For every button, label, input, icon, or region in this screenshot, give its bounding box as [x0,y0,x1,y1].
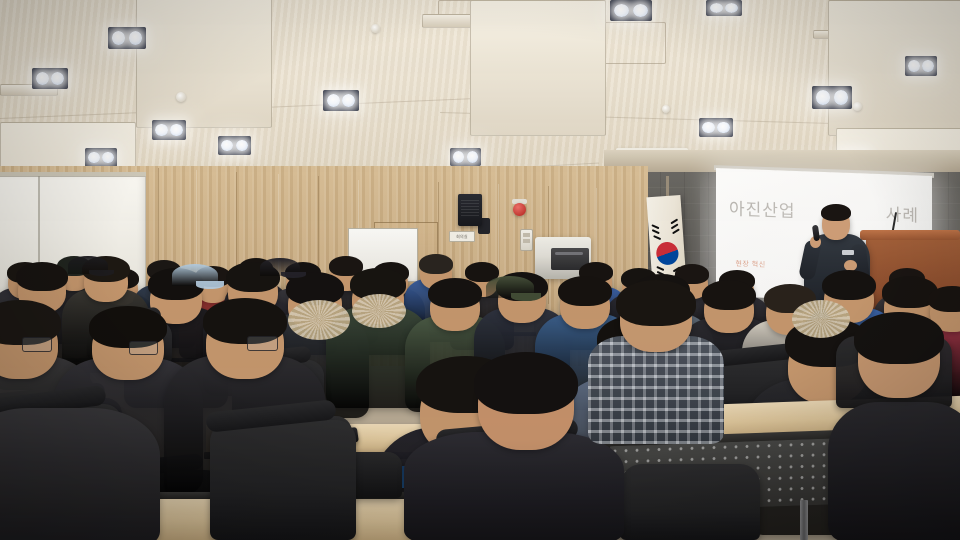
person-hair [702,280,756,310]
person-hair [428,278,482,308]
eyeglasses-icon [247,336,278,351]
presenter-microphone [812,225,820,242]
ac-cassette-icon [136,0,272,128]
wall-sign: 회의실 [449,231,475,242]
lamp-glow [36,72,49,85]
ceiling-downlight [812,86,852,109]
ceiling-downlight [108,27,146,49]
smoke-detector-icon [176,92,186,102]
person-foreground-left-body [0,408,160,540]
lamp-glow [170,124,182,136]
ac-cassette-icon [828,0,960,136]
presenter-hair [821,204,851,221]
lamp-glow [834,90,848,104]
seminar-room-photo: 회의실 아진산업 사례 현장 혁신 개선 [0,0,960,540]
trigram-bar [672,229,680,235]
person-plaid-hair [616,280,696,326]
trigram-bar [652,229,660,234]
lamp-glow [88,152,100,164]
podium-top [860,230,960,240]
chair-foreground-2[interactable] [210,420,356,540]
person-foreground-center-hair [474,352,578,414]
speaker-grille [461,198,478,217]
lamp-glow [221,140,233,152]
person-hair [822,270,876,300]
ceiling-downlight [218,136,251,155]
trigram-bar [653,235,661,240]
wall-outlet-plate[interactable] [520,229,533,251]
wall-speaker-icon [458,194,482,226]
lamp-glow [633,4,648,17]
lamp-glow [717,122,729,134]
lamp-glow [112,31,126,45]
person-hair [16,262,68,291]
lamp-glow [102,152,114,164]
lamp-glow [702,122,714,134]
desk-leg [800,500,808,540]
ceiling-downlight [610,0,652,21]
cap-brim [89,270,114,276]
smoke-detector-icon [853,102,862,111]
lamp-glow [129,31,143,45]
ac-cassette-icon [470,0,606,136]
cap-brim [281,272,306,278]
lamp-glow [155,124,167,136]
emergency-alarm-icon [513,203,526,216]
fur-2 [792,300,850,338]
ceiling-downlight [323,90,359,111]
lamp-glow [908,60,920,72]
person-hair [928,286,960,312]
ceiling-downlight [85,148,117,167]
cap-brim [196,281,225,289]
lamp-glow [453,151,464,162]
av-cart-slot [555,252,583,255]
ceiling-downlight [152,120,186,140]
slide-title-right: 사례 [886,200,919,226]
presenter-badge [842,250,854,255]
ceiling-downlight [32,68,68,89]
lamp-glow [51,72,64,85]
person-plaid-shirt [588,336,724,444]
eyeglasses-icon [22,337,52,352]
eyeglasses-icon [129,341,158,355]
lamp-glow [816,90,830,104]
lamp-glow [467,151,478,162]
chair-foreground-4[interactable] [620,464,760,540]
fur-1 [288,300,350,340]
cap-brim [511,293,541,301]
lamp-glow [327,94,340,107]
lamp-glow [725,3,738,13]
lamp-glow [614,4,629,17]
person-hair [558,276,612,306]
slide-title-left: 아진산업 [729,194,796,221]
fur-3 [352,294,406,328]
person-right-body [828,402,960,540]
lamp-glow [236,140,248,152]
ceiling-downlight [905,56,937,76]
lamp-glow [710,3,723,13]
ceiling-downlight [706,0,742,16]
ceiling-downlight [450,148,481,166]
smoke-detector-icon [662,105,670,113]
smoke-detector-icon [371,24,380,33]
ceiling-downlight [699,118,733,137]
lamp-glow [342,94,355,107]
lamp-glow [922,60,934,72]
person-right-hair [854,312,944,364]
